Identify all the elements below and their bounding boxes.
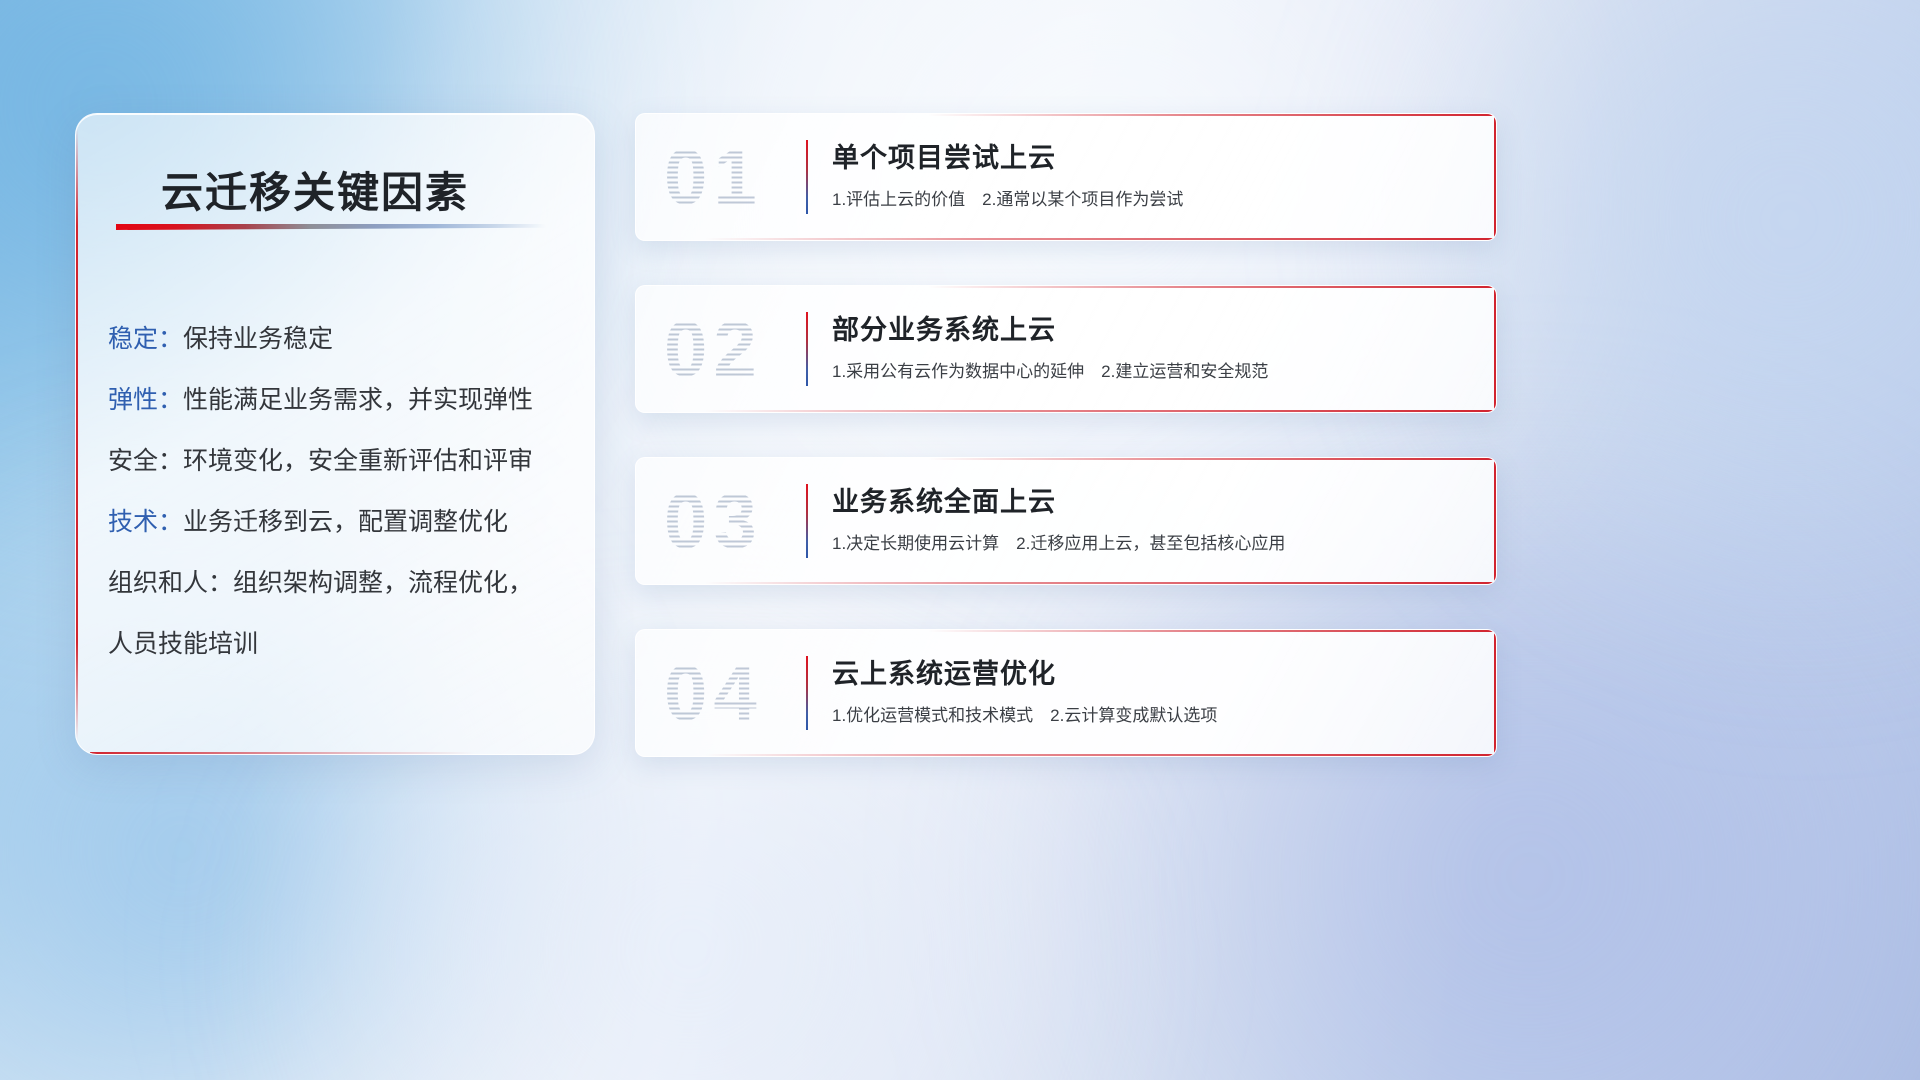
factor-label: 安全：: [108, 447, 183, 475]
stage-content: 部分业务系统上云 1.采用公有云作为数据中心的延伸 2.建立运营和安全规范: [832, 312, 1466, 384]
factor-item: 稳定：保持业务稳定: [108, 309, 570, 370]
card-top-accent: [928, 458, 1496, 460]
card-right-accent: [1494, 458, 1496, 584]
stage-title: 单个项目尝试上云: [832, 140, 1466, 176]
stage-content: 云上系统运营优化 1.优化运营模式和技术模式 2.云计算变成默认选项: [832, 656, 1466, 728]
stage-number: 01: [664, 132, 763, 223]
stage-description: 1.优化运营模式和技术模式 2.云计算变成默认选项: [832, 704, 1466, 728]
stage-card-01[interactable]: 01 单个项目尝试上云 1.评估上云的价值 2.通常以某个项目作为尝试: [635, 113, 1497, 241]
factor-list: 稳定：保持业务稳定 弹性：性能满足业务需求，并实现弹性 安全：环境变化，安全重新…: [108, 309, 570, 675]
stage-title: 部分业务系统上云: [832, 312, 1466, 348]
page-title: 云迁移关键因素: [161, 159, 469, 220]
factor-item: 技术：业务迁移到云，配置调整优化: [108, 492, 570, 553]
card-right-accent: [1494, 630, 1496, 756]
card-top-accent: [928, 286, 1496, 288]
factor-text: 人员技能培训: [108, 630, 258, 658]
stage-description: 1.评估上云的价值 2.通常以某个项目作为尝试: [832, 188, 1466, 212]
card-bottom-accent: [705, 582, 1496, 584]
stage-content: 单个项目尝试上云 1.评估上云的价值 2.通常以某个项目作为尝试: [832, 140, 1466, 212]
factor-item: 组织和人：组织架构调整，流程优化，: [108, 553, 570, 614]
factor-item: 安全：环境变化，安全重新评估和评审: [108, 431, 570, 492]
factor-text: 性能满足业务需求，并实现弹性: [183, 386, 533, 414]
stage-title: 云上系统运营优化: [832, 656, 1466, 692]
card-right-accent: [1494, 114, 1496, 240]
factor-text: 保持业务稳定: [183, 325, 333, 353]
stage-card-03[interactable]: 03 业务系统全面上云 1.决定长期使用云计算 2.迁移应用上云，甚至包括核心应…: [635, 457, 1497, 585]
stage-content: 业务系统全面上云 1.决定长期使用云计算 2.迁移应用上云，甚至包括核心应用: [832, 484, 1466, 556]
factor-text: 组织架构调整，流程优化，: [233, 569, 533, 597]
factor-label: 组织和人：: [108, 569, 233, 597]
card-bottom-accent: [705, 754, 1496, 756]
stage-title: 业务系统全面上云: [832, 484, 1466, 520]
stage-description: 1.采用公有云作为数据中心的延伸 2.建立运营和安全规范: [832, 360, 1466, 384]
card-right-accent: [1494, 286, 1496, 412]
factor-text: 业务迁移到云，配置调整优化: [183, 508, 508, 536]
stage-number: 03: [664, 476, 763, 567]
factor-label: 弹性：: [108, 386, 183, 414]
factor-text: 环境变化，安全重新评估和评审: [183, 447, 533, 475]
card-bottom-accent: [705, 238, 1496, 240]
stage-number: 04: [664, 648, 763, 739]
stage-divider: [806, 140, 808, 214]
stage-divider: [806, 484, 808, 558]
stage-divider: [806, 656, 808, 730]
stage-card-04[interactable]: 04 云上系统运营优化 1.优化运营模式和技术模式 2.云计算变成默认选项: [635, 629, 1497, 757]
panel-left-accent: [76, 128, 78, 740]
stage-number: 02: [664, 304, 763, 395]
panel-bottom-accent: [90, 752, 474, 754]
factor-item: 弹性：性能满足业务需求，并实现弹性: [108, 370, 570, 431]
stage-divider: [806, 312, 808, 386]
title-underline: [116, 224, 546, 230]
card-top-accent: [928, 114, 1496, 116]
card-bottom-accent: [705, 410, 1496, 412]
factor-label: 技术：: [108, 508, 183, 536]
factor-item-continuation: 人员技能培训: [108, 614, 570, 675]
factor-label: 稳定：: [108, 325, 183, 353]
card-top-accent: [928, 630, 1496, 632]
key-factors-panel: 云迁移关键因素 稳定：保持业务稳定 弹性：性能满足业务需求，并实现弹性 安全：环…: [75, 113, 595, 755]
stage-description: 1.决定长期使用云计算 2.迁移应用上云，甚至包括核心应用: [832, 532, 1466, 556]
stage-card-02[interactable]: 02 部分业务系统上云 1.采用公有云作为数据中心的延伸 2.建立运营和安全规范: [635, 285, 1497, 413]
